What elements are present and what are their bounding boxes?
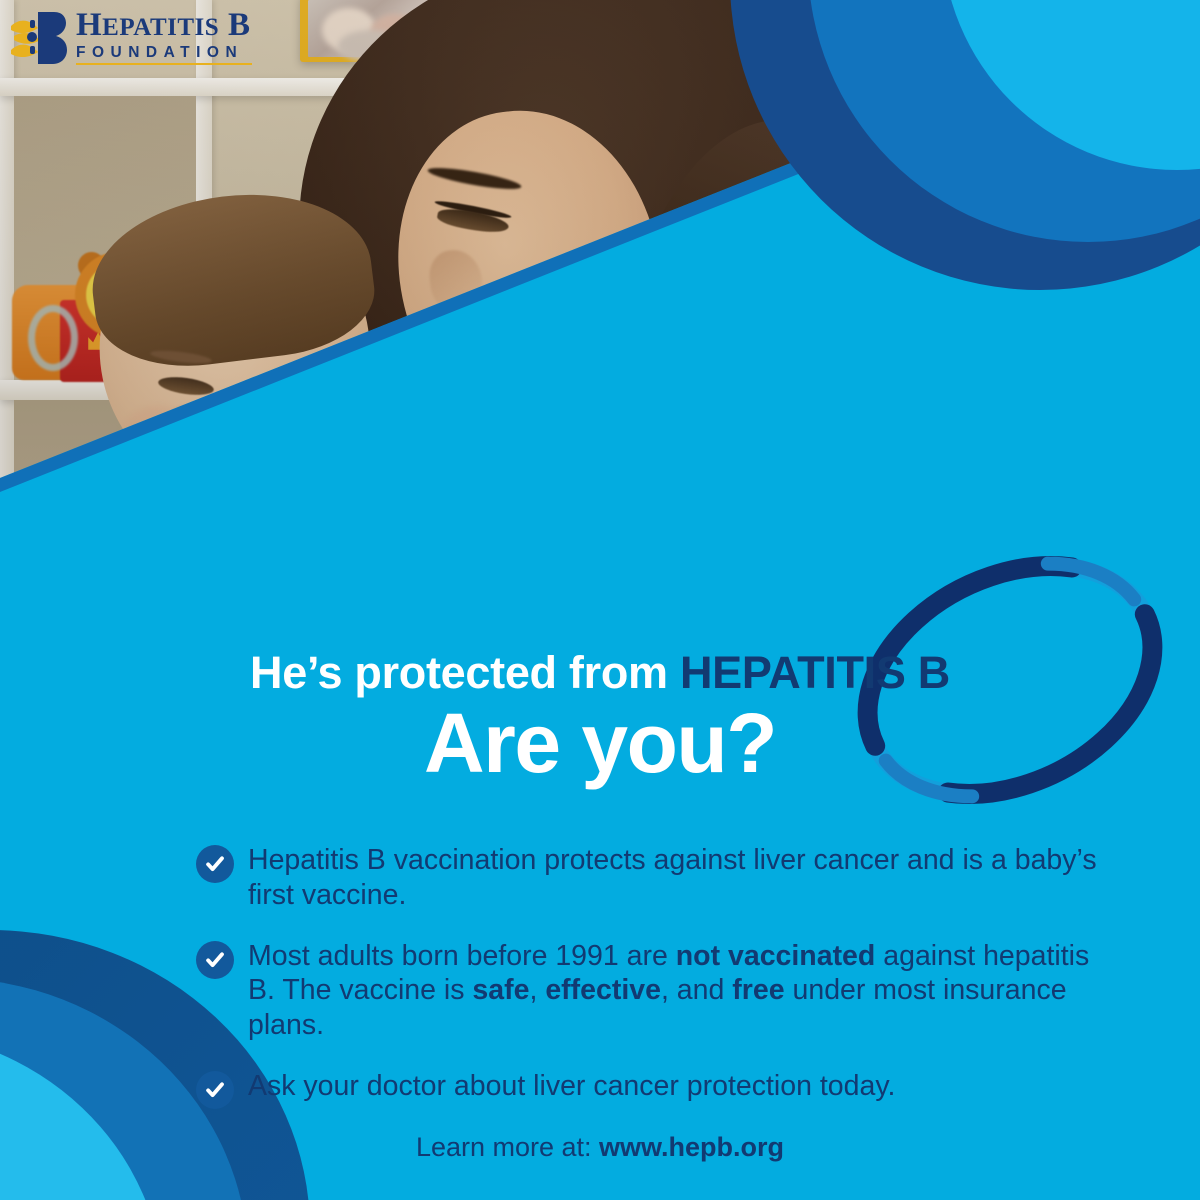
bullet-item: Ask your doctor about liver cancer prote… [196, 1069, 1116, 1109]
headline-block: He’s protected from HEPATITIS B Are you? [0, 650, 1200, 785]
headline-line-2: Are you? [0, 701, 1200, 785]
headline-white-text: He’s protected from [250, 647, 668, 698]
headline-line-1: He’s protected from HEPATITIS B [0, 650, 1200, 695]
logo-mark-icon [8, 6, 70, 68]
footer-prefix: Learn more at: [416, 1132, 599, 1162]
check-icon [196, 941, 234, 979]
bullet-text-run: , [529, 974, 545, 1006]
bullet-text: Ask your doctor about liver cancer prote… [248, 1069, 895, 1104]
bullet-text: Hepatitis B vaccination protects against… [248, 843, 1116, 913]
footer-url[interactable]: www.hepb.org [599, 1132, 784, 1162]
check-icon [196, 1071, 234, 1109]
logo-name-bottom: FOUNDATION [76, 45, 252, 61]
logo-wordmark: HEPATITIS B FOUNDATION [76, 9, 252, 65]
bullet-emphasis: not vaccinated [676, 940, 876, 972]
bullet-emphasis: effective [545, 974, 661, 1006]
bullet-item: Hepatitis B vaccination protects against… [196, 843, 1116, 913]
bullet-text-run: Most adults born before 1991 are [248, 940, 676, 972]
headline-navy-text: HEPATITIS B [680, 647, 950, 698]
bullet-text: Most adults born before 1991 are not vac… [248, 939, 1116, 1043]
bullet-emphasis: free [732, 974, 784, 1006]
bullet-text-run: Hepatitis B vaccination protects against… [248, 844, 1097, 911]
hepatitis-b-foundation-logo[interactable]: HEPATITIS B FOUNDATION [8, 6, 252, 68]
bullet-item: Most adults born before 1991 are not vac… [196, 939, 1116, 1043]
footer-cta: Learn more at: www.hepb.org [0, 1132, 1200, 1163]
logo-gold-rule [76, 63, 252, 65]
bullet-list: Hepatitis B vaccination protects against… [196, 843, 1116, 1135]
check-icon [196, 845, 234, 883]
bullet-text-run: , and [661, 974, 732, 1006]
logo-name-top: HEPATITIS B [76, 9, 252, 42]
poster: HEPATITIS B FOUNDATION He’s protected fr… [0, 0, 1200, 1200]
bullet-text-run: Ask your doctor about liver cancer prote… [248, 1070, 895, 1102]
bullet-emphasis: safe [472, 974, 529, 1006]
